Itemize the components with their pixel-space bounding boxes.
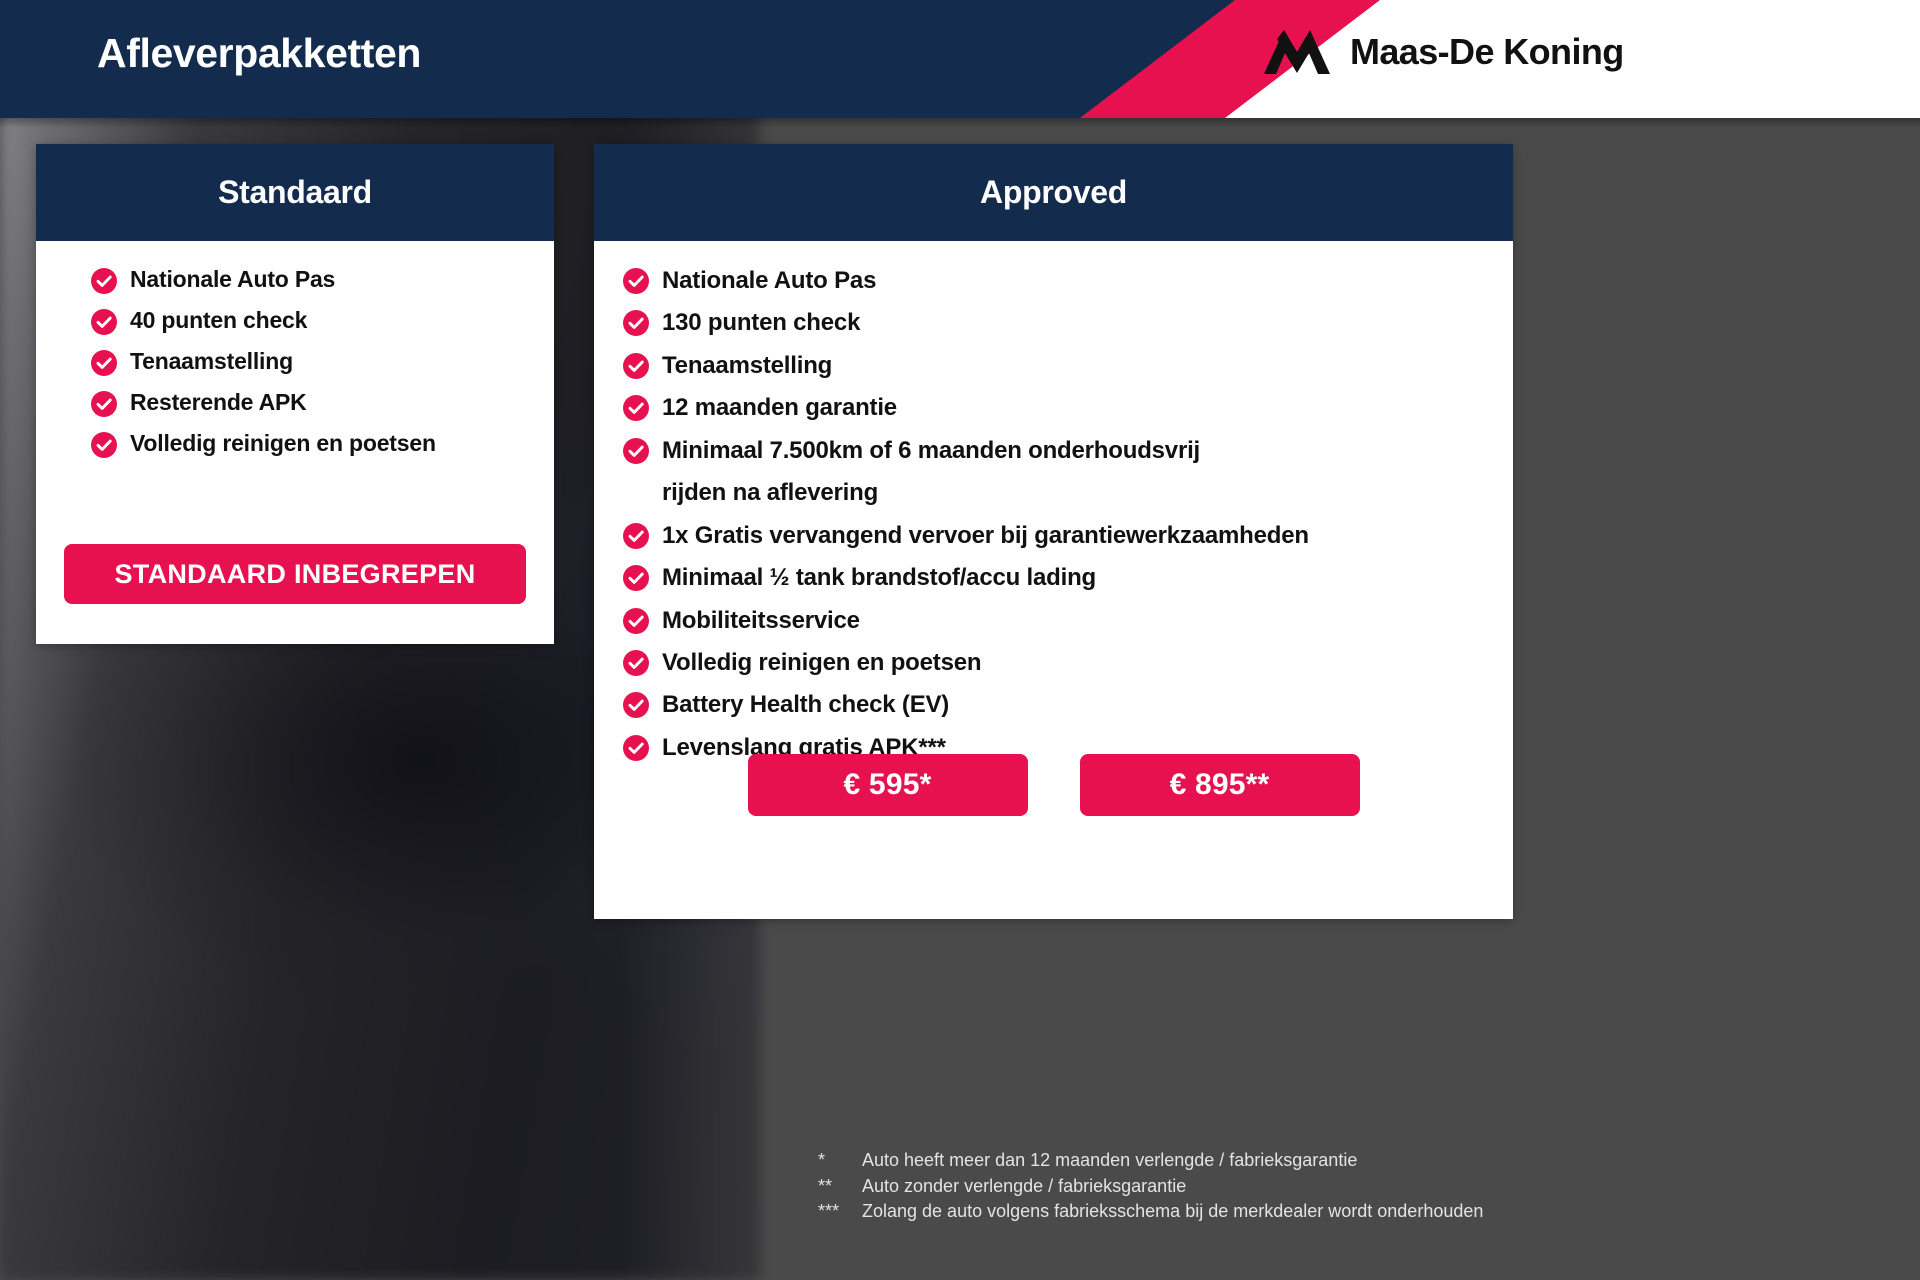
feature-label: Volledig reinigen en poetsen <box>662 647 981 678</box>
feature-label: Nationale Auto Pas <box>130 265 335 295</box>
feature-label: Minimaal ½ tank brandstof/accu lading <box>662 562 1096 593</box>
card-title-approved: Approved <box>980 174 1127 211</box>
feature-item: 130 punten check <box>594 307 1513 338</box>
footnote-text: Zolang de auto volgens fabrieksschema bi… <box>862 1199 1483 1225</box>
brand-lockup: Maas-De Koning <box>1262 22 1624 82</box>
maas-de-koning-m-logo-icon <box>1262 22 1332 82</box>
feature-label: Volledig reinigen en poetsen <box>130 429 436 459</box>
footnote-marker: ** <box>818 1174 862 1200</box>
feature-item: 12 maanden garantie <box>594 392 1513 423</box>
footnote-text: Auto heeft meer dan 12 maanden verlengde… <box>862 1148 1357 1174</box>
footnote-row: *** Zolang de auto volgens fabrieksschem… <box>818 1199 1483 1225</box>
feature-item-wrapped-line: rijden na aflevering <box>594 477 1513 508</box>
footnotes: * Auto heeft meer dan 12 maanden verleng… <box>818 1148 1483 1225</box>
package-card-standaard: Standaard Nationale Auto Pas 40 punten c… <box>36 144 554 644</box>
price-button-595[interactable]: € 595* <box>748 754 1028 816</box>
page-header: Afleverpakketten Maas-De Koning <box>0 0 1920 118</box>
feature-item: Mobiliteitsservice <box>594 605 1513 636</box>
package-card-approved: Approved Nationale Auto Pas 130 punten c… <box>594 144 1513 919</box>
check-circle-icon <box>91 432 117 458</box>
feature-label: Resterende APK <box>130 388 307 418</box>
check-circle-icon <box>623 608 649 634</box>
feature-item: Tenaamstelling <box>36 347 554 377</box>
check-circle-icon <box>91 391 117 417</box>
feature-label: Tenaamstelling <box>130 347 293 377</box>
footnote-row: ** Auto zonder verlengde / fabrieksgaran… <box>818 1174 1483 1200</box>
feature-item: Battery Health check (EV) <box>594 689 1513 720</box>
feature-list-standaard: Nationale Auto Pas 40 punten check Tenaa… <box>36 241 554 458</box>
footnote-marker: *** <box>818 1199 862 1225</box>
card-title-standaard: Standaard <box>218 174 372 211</box>
feature-label: Nationale Auto Pas <box>662 265 876 296</box>
check-circle-icon <box>623 353 649 379</box>
footnote-row: * Auto heeft meer dan 12 maanden verleng… <box>818 1148 1483 1174</box>
check-circle-icon <box>91 350 117 376</box>
page-title: Afleverpakketten <box>97 30 421 77</box>
feature-item: Tenaamstelling <box>594 350 1513 381</box>
feature-item: Volledig reinigen en poetsen <box>594 647 1513 678</box>
feature-item: 40 punten check <box>36 306 554 336</box>
feature-label: rijden na aflevering <box>662 477 878 508</box>
check-circle-icon <box>91 309 117 335</box>
feature-item: Nationale Auto Pas <box>36 265 554 295</box>
feature-label: 130 punten check <box>662 307 860 338</box>
price-button-895[interactable]: € 895** <box>1080 754 1360 816</box>
check-circle-icon <box>623 268 649 294</box>
brand-name: Maas-De Koning <box>1350 31 1624 73</box>
check-circle-icon <box>623 565 649 591</box>
feature-item: Nationale Auto Pas <box>594 265 1513 296</box>
feature-item: Resterende APK <box>36 388 554 418</box>
footnote-text: Auto zonder verlengde / fabrieksgarantie <box>862 1174 1186 1200</box>
feature-label: Battery Health check (EV) <box>662 689 949 720</box>
card-header-approved: Approved <box>594 144 1513 241</box>
card-header-standaard: Standaard <box>36 144 554 241</box>
feature-item: Minimaal ½ tank brandstof/accu lading <box>594 562 1513 593</box>
feature-label: Mobiliteitsservice <box>662 605 860 636</box>
check-circle-icon <box>623 310 649 336</box>
approved-price-row: € 595* € 895** <box>594 754 1513 816</box>
standaard-included-button[interactable]: STANDAARD INBEGREPEN <box>64 544 526 604</box>
check-circle-icon <box>623 523 649 549</box>
footnote-marker: * <box>818 1148 862 1174</box>
feature-label: 40 punten check <box>130 306 307 336</box>
feature-item: Volledig reinigen en poetsen <box>36 429 554 459</box>
feature-list-approved: Nationale Auto Pas 130 punten check Tena… <box>594 241 1513 763</box>
check-circle-icon <box>623 692 649 718</box>
feature-label: Minimaal 7.500km of 6 maanden onderhouds… <box>662 435 1200 466</box>
feature-item: 1x Gratis vervangend vervoer bij garanti… <box>594 520 1513 551</box>
check-circle-icon <box>623 438 649 464</box>
header-drop-shadow <box>0 118 1920 128</box>
feature-label: 1x Gratis vervangend vervoer bij garanti… <box>662 520 1309 551</box>
feature-label: Tenaamstelling <box>662 350 832 381</box>
check-circle-icon <box>91 268 117 294</box>
check-circle-icon <box>623 650 649 676</box>
check-circle-icon <box>623 395 649 421</box>
feature-label: 12 maanden garantie <box>662 392 897 423</box>
feature-item: Minimaal 7.500km of 6 maanden onderhouds… <box>594 435 1513 466</box>
